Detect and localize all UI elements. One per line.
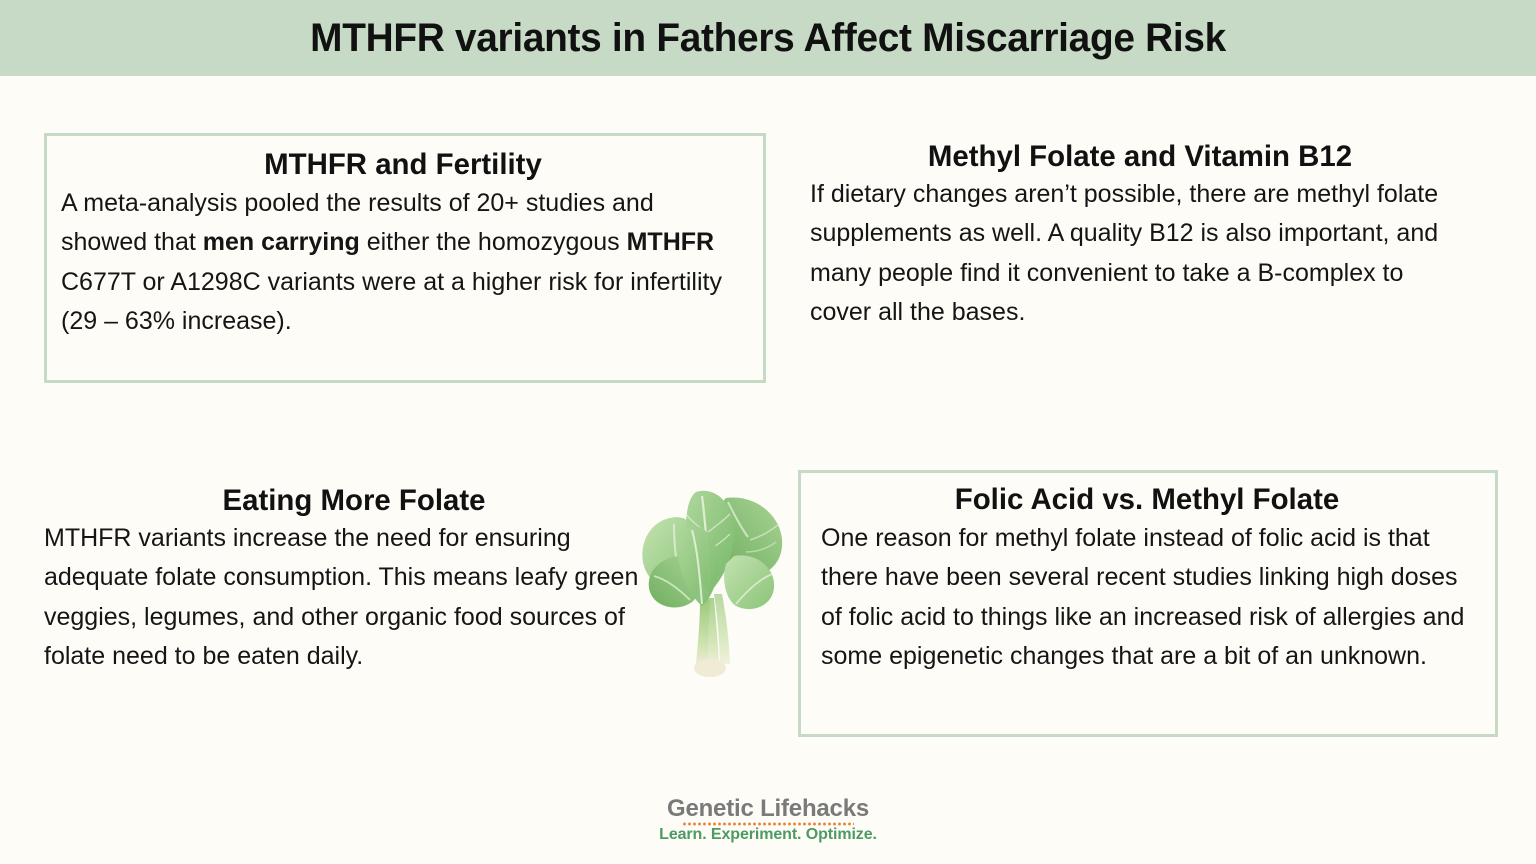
card-title-mthfr-and-fertility: MTHFR and Fertility	[68, 148, 738, 182]
card-title-folic-acid-vs-methyl-folate: Folic Acid vs. Methyl Folate	[828, 483, 1467, 517]
header-band: MTHFR variants in Fathers Affect Miscarr…	[0, 0, 1536, 76]
card-body-folic-acid-vs-methyl-folate: One reason for methyl folate instead of …	[821, 519, 1473, 677]
card-title-methyl-folate-and-vitamin-b12: Methyl Folate and Vitamin B12	[817, 140, 1464, 174]
logo-wordmark: Genetic Lifehacks	[667, 796, 869, 821]
body-bold-men-carrying: men carrying	[203, 228, 360, 256]
page-title: MTHFR variants in Fathers Affect Miscarr…	[310, 16, 1226, 61]
logo-tagline: Learn. Experiment. Optimize.	[659, 827, 877, 844]
spinach-stems	[694, 594, 730, 677]
card-mthfr-and-fertility: MTHFR and Fertility A meta-analysis pool…	[44, 133, 766, 383]
card-title-eating-more-folate: Eating More Folate	[50, 484, 658, 518]
footer-logo: Genetic Lifehacks Learn. Experiment. Opt…	[0, 796, 1536, 844]
card-methyl-folate-and-vitamin-b12: Methyl Folate and Vitamin B12 If dietary…	[810, 140, 1470, 370]
card-body-methyl-folate-and-vitamin-b12: If dietary changes aren’t possible, ther…	[810, 175, 1470, 333]
body-text-segment: either the homozygous	[360, 228, 627, 256]
card-body-mthfr-and-fertility: A meta-analysis pooled the results of 20…	[61, 184, 745, 342]
card-folic-acid-vs-methyl-folate: Folic Acid vs. Methyl Folate One reason …	[798, 470, 1498, 737]
body-text-segment: C677T or A1298C variants were at a highe…	[61, 268, 722, 336]
card-body-eating-more-folate: MTHFR variants increase the need for ens…	[44, 519, 664, 677]
card-eating-more-folate: Eating More Folate MTHFR variants increa…	[44, 484, 664, 714]
body-bold-mthfr: MTHFR	[627, 228, 714, 256]
